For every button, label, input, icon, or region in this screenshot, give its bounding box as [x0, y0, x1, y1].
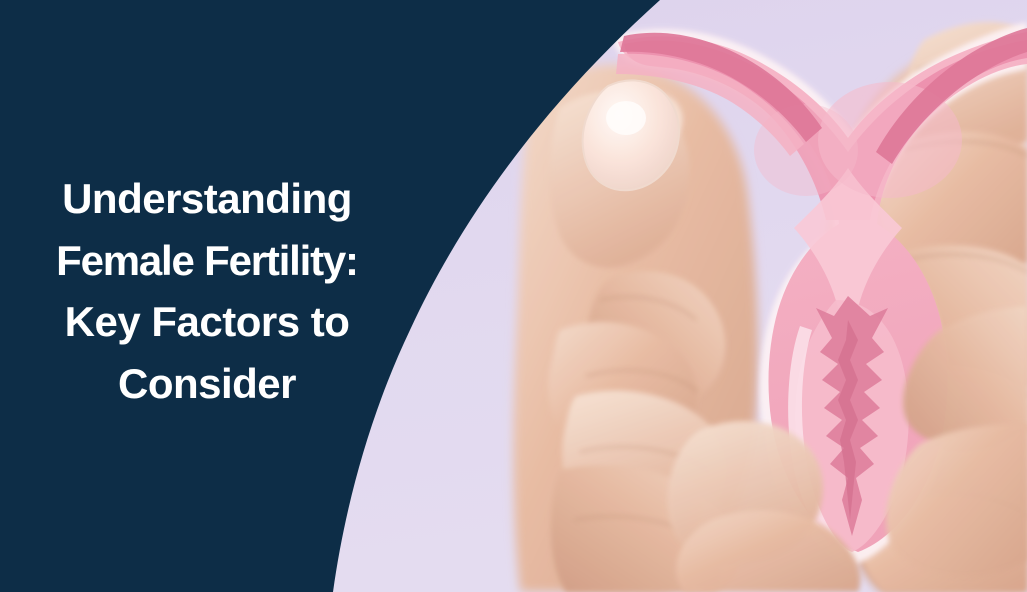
title-line-1: Understanding — [0, 168, 414, 230]
title-line-2: Female Fertility: — [0, 230, 414, 292]
title-line-3: Key Factors to — [0, 291, 414, 353]
hero-banner: Understanding Female Fertility: Key Fact… — [0, 0, 1027, 592]
page-title: Understanding Female Fertility: Key Fact… — [0, 168, 414, 415]
title-line-4: Consider — [0, 353, 414, 415]
